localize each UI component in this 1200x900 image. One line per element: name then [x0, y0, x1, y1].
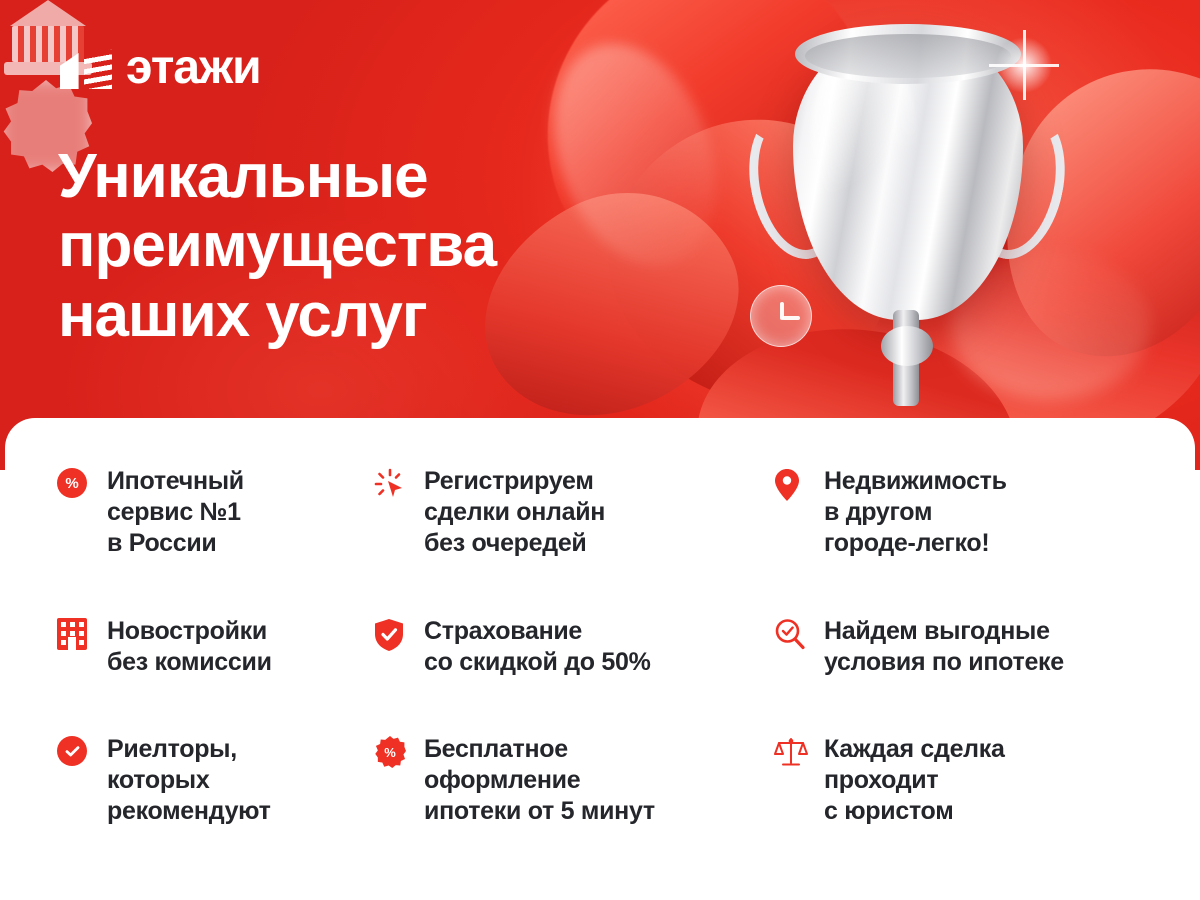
sparkle-icon: [991, 32, 1057, 98]
feature-text: Риелторы, которых рекомендуют: [107, 734, 271, 827]
brand-name: этажи: [126, 44, 261, 92]
feature-item: Новостройки без комиссии: [57, 616, 374, 734]
location-pin-icon: [774, 468, 808, 502]
feature-item: Риелторы, которых рекомендуют: [57, 734, 374, 900]
headline-line-2: преимущества: [58, 211, 698, 280]
trophy-knob: [881, 326, 933, 366]
feature-text: Ипотечный сервис №1 в России: [107, 466, 244, 559]
headline-line-3: наших услуг: [58, 281, 698, 350]
feature-text: Найдем выгодные условия по ипотеке: [824, 616, 1064, 678]
feature-item: Каждая сделка проходит с юристом: [774, 734, 1194, 900]
feature-text: Каждая сделка проходит с юристом: [824, 734, 1005, 827]
check-circle-icon: [57, 736, 91, 770]
feature-text: Бесплатное оформление ипотеки от 5 минут: [424, 734, 655, 827]
feature-item: Недвижимость в другом городе-легко!: [774, 466, 1194, 616]
feature-text: Новостройки без комиссии: [107, 616, 272, 678]
feature-text: Страхование со скидкой до 50%: [424, 616, 651, 678]
badge-percent-icon: %: [374, 736, 408, 770]
feature-item: Страхование со скидкой до 50%: [374, 616, 774, 734]
search-check-icon: [774, 618, 808, 652]
brand-logo[interactable]: этажи: [60, 44, 261, 92]
trophy-cup-rim: [795, 24, 1021, 84]
cursor-click-icon: [374, 468, 408, 502]
feature-item: Регистрируем сделки онлайн без очередей: [374, 466, 774, 616]
features-card: % Ипотечный сервис №1 в России Реги: [5, 418, 1195, 900]
clock-icon: [750, 285, 812, 347]
feature-item: Найдем выгодные условия по ипотеке: [774, 616, 1194, 734]
feature-text: Регистрируем сделки онлайн без очередей: [424, 466, 605, 559]
feature-item: % Бесплатное оформление ипотеки от 5 мин…: [374, 734, 774, 900]
hero-banner: % этажи Уникальные преимущества наших ус…: [0, 0, 1200, 470]
percent-circle-icon: %: [57, 468, 91, 502]
shield-check-icon: [374, 618, 408, 652]
features-grid: % Ипотечный сервис №1 в России Реги: [5, 418, 1195, 900]
building-icon: [57, 618, 91, 652]
feature-text: Недвижимость в другом городе-легко!: [824, 466, 1007, 559]
scales-justice-icon: [774, 736, 808, 770]
building-floors-icon: [60, 45, 112, 91]
headline-line-1: Уникальные: [58, 142, 698, 211]
trophy-illustration: [745, 10, 1075, 430]
page-title: Уникальные преимущества наших услуг: [58, 142, 698, 350]
feature-item: % Ипотечный сервис №1 в России: [57, 466, 374, 616]
